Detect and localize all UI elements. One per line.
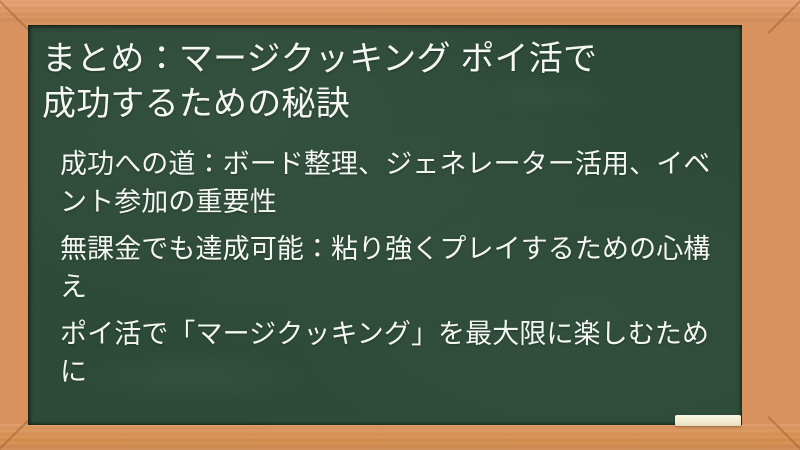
chalk-stick-icon xyxy=(675,415,741,426)
frame-rail-top xyxy=(0,0,800,24)
summary-bullet-list: 成功への道：ボード整理、ジェネレーター活用、イベント参加の重要性 無課金でも達成… xyxy=(36,145,720,391)
chalkboard-content: まとめ：マージクッキング ポイ活で 成功するための秘訣 成功への道：ボード整理、… xyxy=(28,25,742,425)
chalkboard: まとめ：マージクッキング ポイ活で 成功するための秘訣 成功への道：ボード整理、… xyxy=(28,25,742,425)
list-item: 無課金でも達成可能：粘り強くプレイするための心構え xyxy=(60,230,720,306)
list-item: ポイ活で「マージクッキング」を最大限に楽しむために xyxy=(60,315,720,391)
frame-ledge-bottom xyxy=(0,424,800,450)
slide-canvas: まとめ：マージクッキング ポイ活で 成功するための秘訣 成功への道：ボード整理、… xyxy=(0,0,800,450)
page-title: まとめ：マージクッキング ポイ活で 成功するための秘訣 xyxy=(36,37,720,127)
list-item: 成功への道：ボード整理、ジェネレーター活用、イベント参加の重要性 xyxy=(60,145,720,221)
